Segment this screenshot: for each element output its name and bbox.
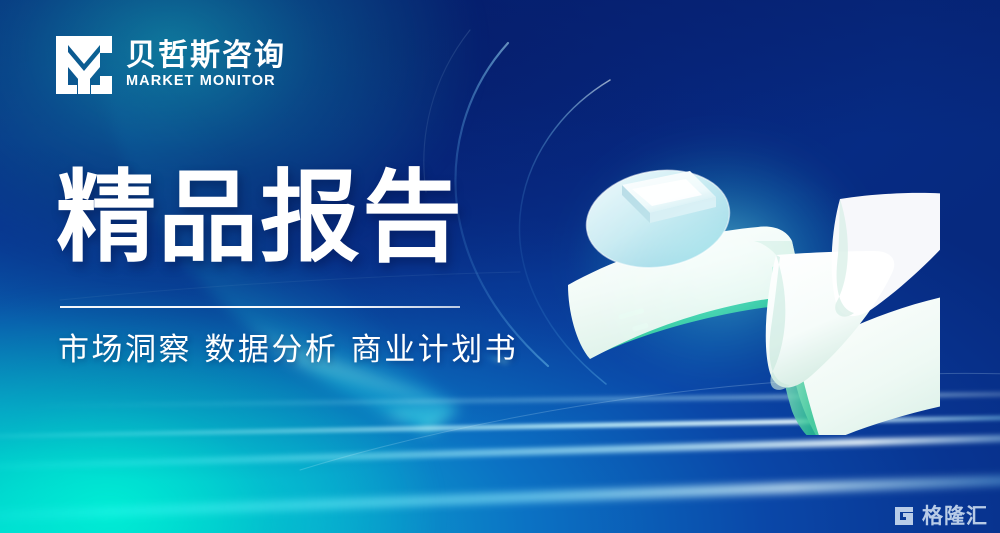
brand-logo-text: 贝哲斯咨询 MARKET MONITOR: [126, 40, 286, 89]
watermark-label: 格隆汇: [922, 506, 988, 527]
book-backlight-glow: [570, 135, 870, 385]
brand-name-en: MARKET MONITOR: [126, 74, 286, 90]
watermark: 格隆汇: [893, 505, 988, 527]
gelonghui-g-logo-icon: [893, 505, 915, 527]
brand-logo: 贝哲斯咨询 MARKET MONITOR: [56, 36, 286, 94]
market-monitor-m-mark-icon: [56, 36, 112, 94]
page-title: 精品报告: [56, 166, 464, 270]
report-cover-poster: 贝哲斯咨询 MARKET MONITOR 精品报告 市场洞察 数据分析 商业计划…: [0, 0, 1000, 533]
title-divider: [60, 306, 460, 308]
page-subtitle: 市场洞察 数据分析 商业计划书: [58, 330, 518, 372]
brand-name-cn: 贝哲斯咨询: [126, 40, 286, 72]
book-illustration: [540, 145, 940, 435]
